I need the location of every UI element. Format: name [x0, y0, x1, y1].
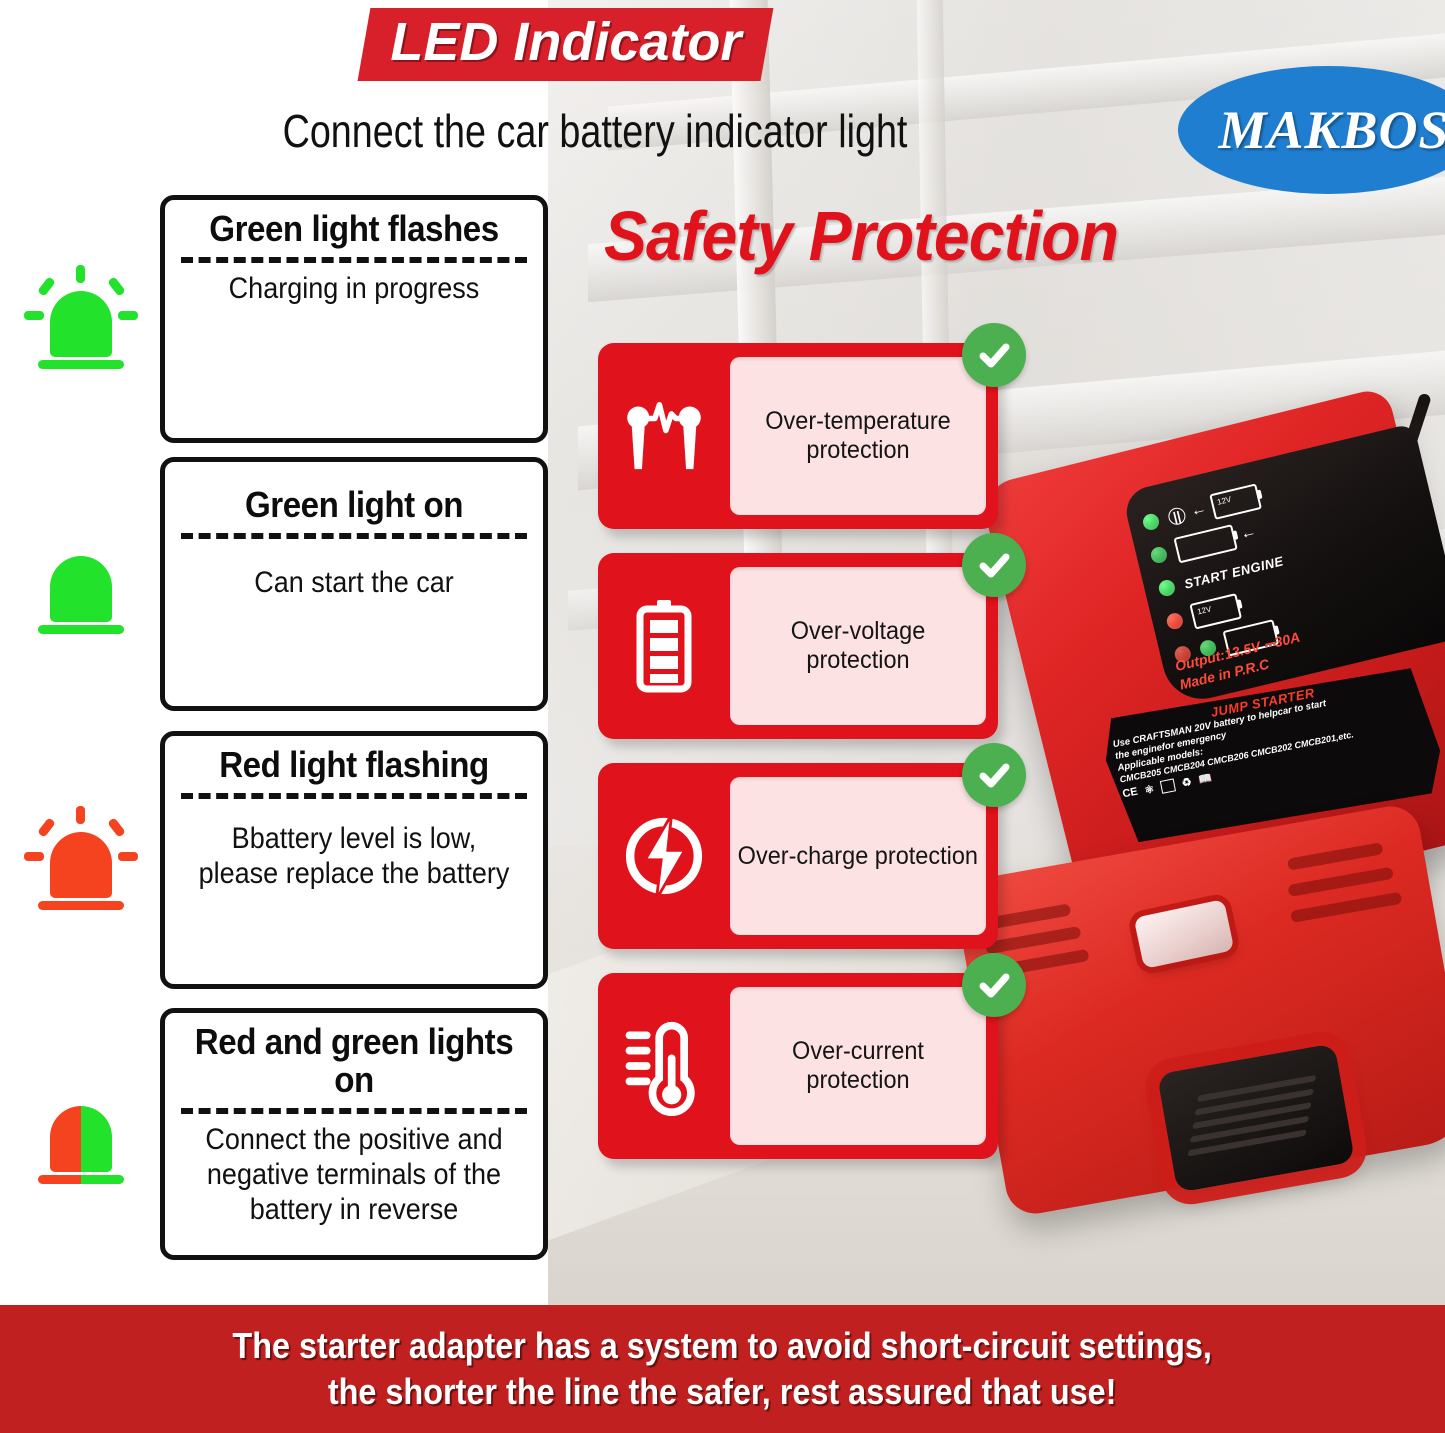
check-icon [962, 953, 1026, 1017]
led-row-red-flashing: Red light flashing Bbattery level is low… [0, 720, 560, 1000]
card-icon-wrap [598, 809, 730, 903]
cooling-fin [1287, 867, 1393, 897]
beacon-base [38, 1175, 124, 1184]
beacon-base [38, 625, 124, 634]
beacon-ray [76, 806, 85, 824]
bottom-banner-line-1: The starter adapter has a system to avoi… [233, 1323, 1212, 1369]
divider [181, 793, 527, 799]
battery-level-icon [626, 596, 702, 696]
safety-card-over-current: Over-current protection [598, 973, 998, 1159]
card-label: Over-voltage protection [738, 617, 979, 675]
beacon-dome [50, 1106, 112, 1172]
led-row-green-flashing: Green light flashes Charging in progress [0, 190, 560, 448]
card-panel: Over-charge protection [730, 777, 986, 935]
green-beacon-flashing-icon [24, 265, 136, 373]
page-title: LED Indicator [390, 14, 741, 71]
beacon-icon-wrap [0, 1080, 160, 1188]
cooling-fin [1290, 892, 1402, 923]
red-green-beacon-steady-icon [24, 1080, 136, 1188]
led-row-green-steady: Green light on Can start the car [0, 448, 560, 720]
beacon-icon-wrap [0, 530, 160, 638]
beacon-ray [118, 852, 138, 861]
thermometer-icon [616, 1016, 712, 1116]
beacon-icon-wrap [0, 265, 160, 373]
card-panel: Over-temperature protection [730, 357, 986, 515]
panel-led-green-2 [1157, 578, 1176, 597]
cooling-fin [985, 926, 1082, 954]
beacon-dome [50, 556, 112, 622]
page-title-banner: LED Indicator [358, 8, 774, 81]
ce-mark-icon: CE [1122, 786, 1139, 801]
beacon-dome [50, 832, 112, 898]
led-info-box: Red and green lights on Connect the posi… [160, 1008, 548, 1260]
led-description: Can start the car [197, 548, 512, 601]
card-panel: Over-voltage protection [730, 567, 986, 725]
beacon-ray [24, 852, 44, 861]
led-description: Bbattery level is low, please replace th… [197, 808, 512, 892]
infographic-page: || ← 12V ← START ENGINE [0, 0, 1445, 1433]
card-label: Over-temperature protection [738, 407, 979, 465]
led-description: Charging in progress [197, 272, 512, 307]
card-label: Over-charge protection [738, 842, 978, 871]
beacon-ray [76, 265, 85, 283]
led-info-box: Green light flashes Charging in progress [160, 195, 548, 443]
battery-rails [1187, 1075, 1316, 1159]
led-description: Connect the positive and negative termin… [197, 1123, 512, 1227]
page-subtitle: Connect the car battery indicator light [107, 104, 1083, 158]
led-heading: Red light flashing [193, 746, 515, 784]
beacon-base [38, 901, 124, 910]
class-ii-icon [1160, 778, 1176, 793]
safety-card-over-voltage: Over-voltage protection [598, 553, 998, 739]
recycle-icon: ♻ [1181, 775, 1193, 790]
card-icon-wrap [598, 1016, 730, 1116]
led-heading: Red and green lights on [193, 1023, 515, 1099]
bottom-banner: The starter adapter has a system to avoi… [0, 1305, 1445, 1433]
led-info-box: Green light on Can start the car [160, 457, 548, 711]
beacon-icon-wrap [0, 806, 160, 914]
panel-batt-voltage: 12V [1216, 495, 1232, 507]
green-beacon-steady-icon [24, 530, 136, 638]
lightning-bolt-circle-icon [617, 809, 711, 903]
check-icon [962, 323, 1026, 387]
bottom-banner-line-2: the shorter the line the safer, rest ass… [328, 1369, 1117, 1415]
brand-logo-text: MAKBOS [1218, 99, 1445, 161]
over-temperature-icon [618, 390, 710, 482]
beacon-dome [50, 291, 112, 357]
led-heading: Green light on [193, 472, 515, 524]
safety-card-list: Over-temperature protection Over-voltage… [598, 343, 998, 1183]
beacon-ray [118, 311, 138, 320]
beacon-base [38, 360, 124, 369]
panel-led-red [1165, 611, 1184, 630]
check-icon [962, 533, 1026, 597]
led-info-box: Red light flashing Bbattery level is low… [160, 731, 548, 989]
card-icon-wrap [598, 596, 730, 696]
manual-icon: 📖 [1197, 771, 1213, 786]
check-icon [962, 743, 1026, 807]
battery-fault-glyph: 12V [1190, 595, 1242, 628]
led-row-red-green: Red and green lights on Connect the posi… [0, 1000, 560, 1268]
card-icon-wrap [598, 390, 730, 482]
safety-protection-title: Safety Protection [604, 196, 1118, 276]
safety-card-over-charge: Over-charge protection [598, 763, 998, 949]
divider [181, 257, 527, 263]
led-heading: Green light flashes [193, 210, 515, 248]
red-beacon-flashing-icon [24, 806, 136, 914]
rohs-mark-icon: ⚛ [1143, 782, 1155, 797]
panel-led-green-flash [1149, 545, 1168, 564]
card-panel: Over-current protection [730, 987, 986, 1145]
led-indicator-list: Green light flashes Charging in progress… [0, 190, 560, 1268]
divider [181, 1108, 527, 1114]
divider [181, 533, 527, 539]
panel-led-green [1141, 512, 1160, 531]
cooling-fin [1287, 842, 1384, 870]
card-label: Over-current protection [738, 1037, 979, 1095]
safety-card-over-temperature: Over-temperature protection [598, 343, 998, 529]
beacon-ray [24, 311, 44, 320]
